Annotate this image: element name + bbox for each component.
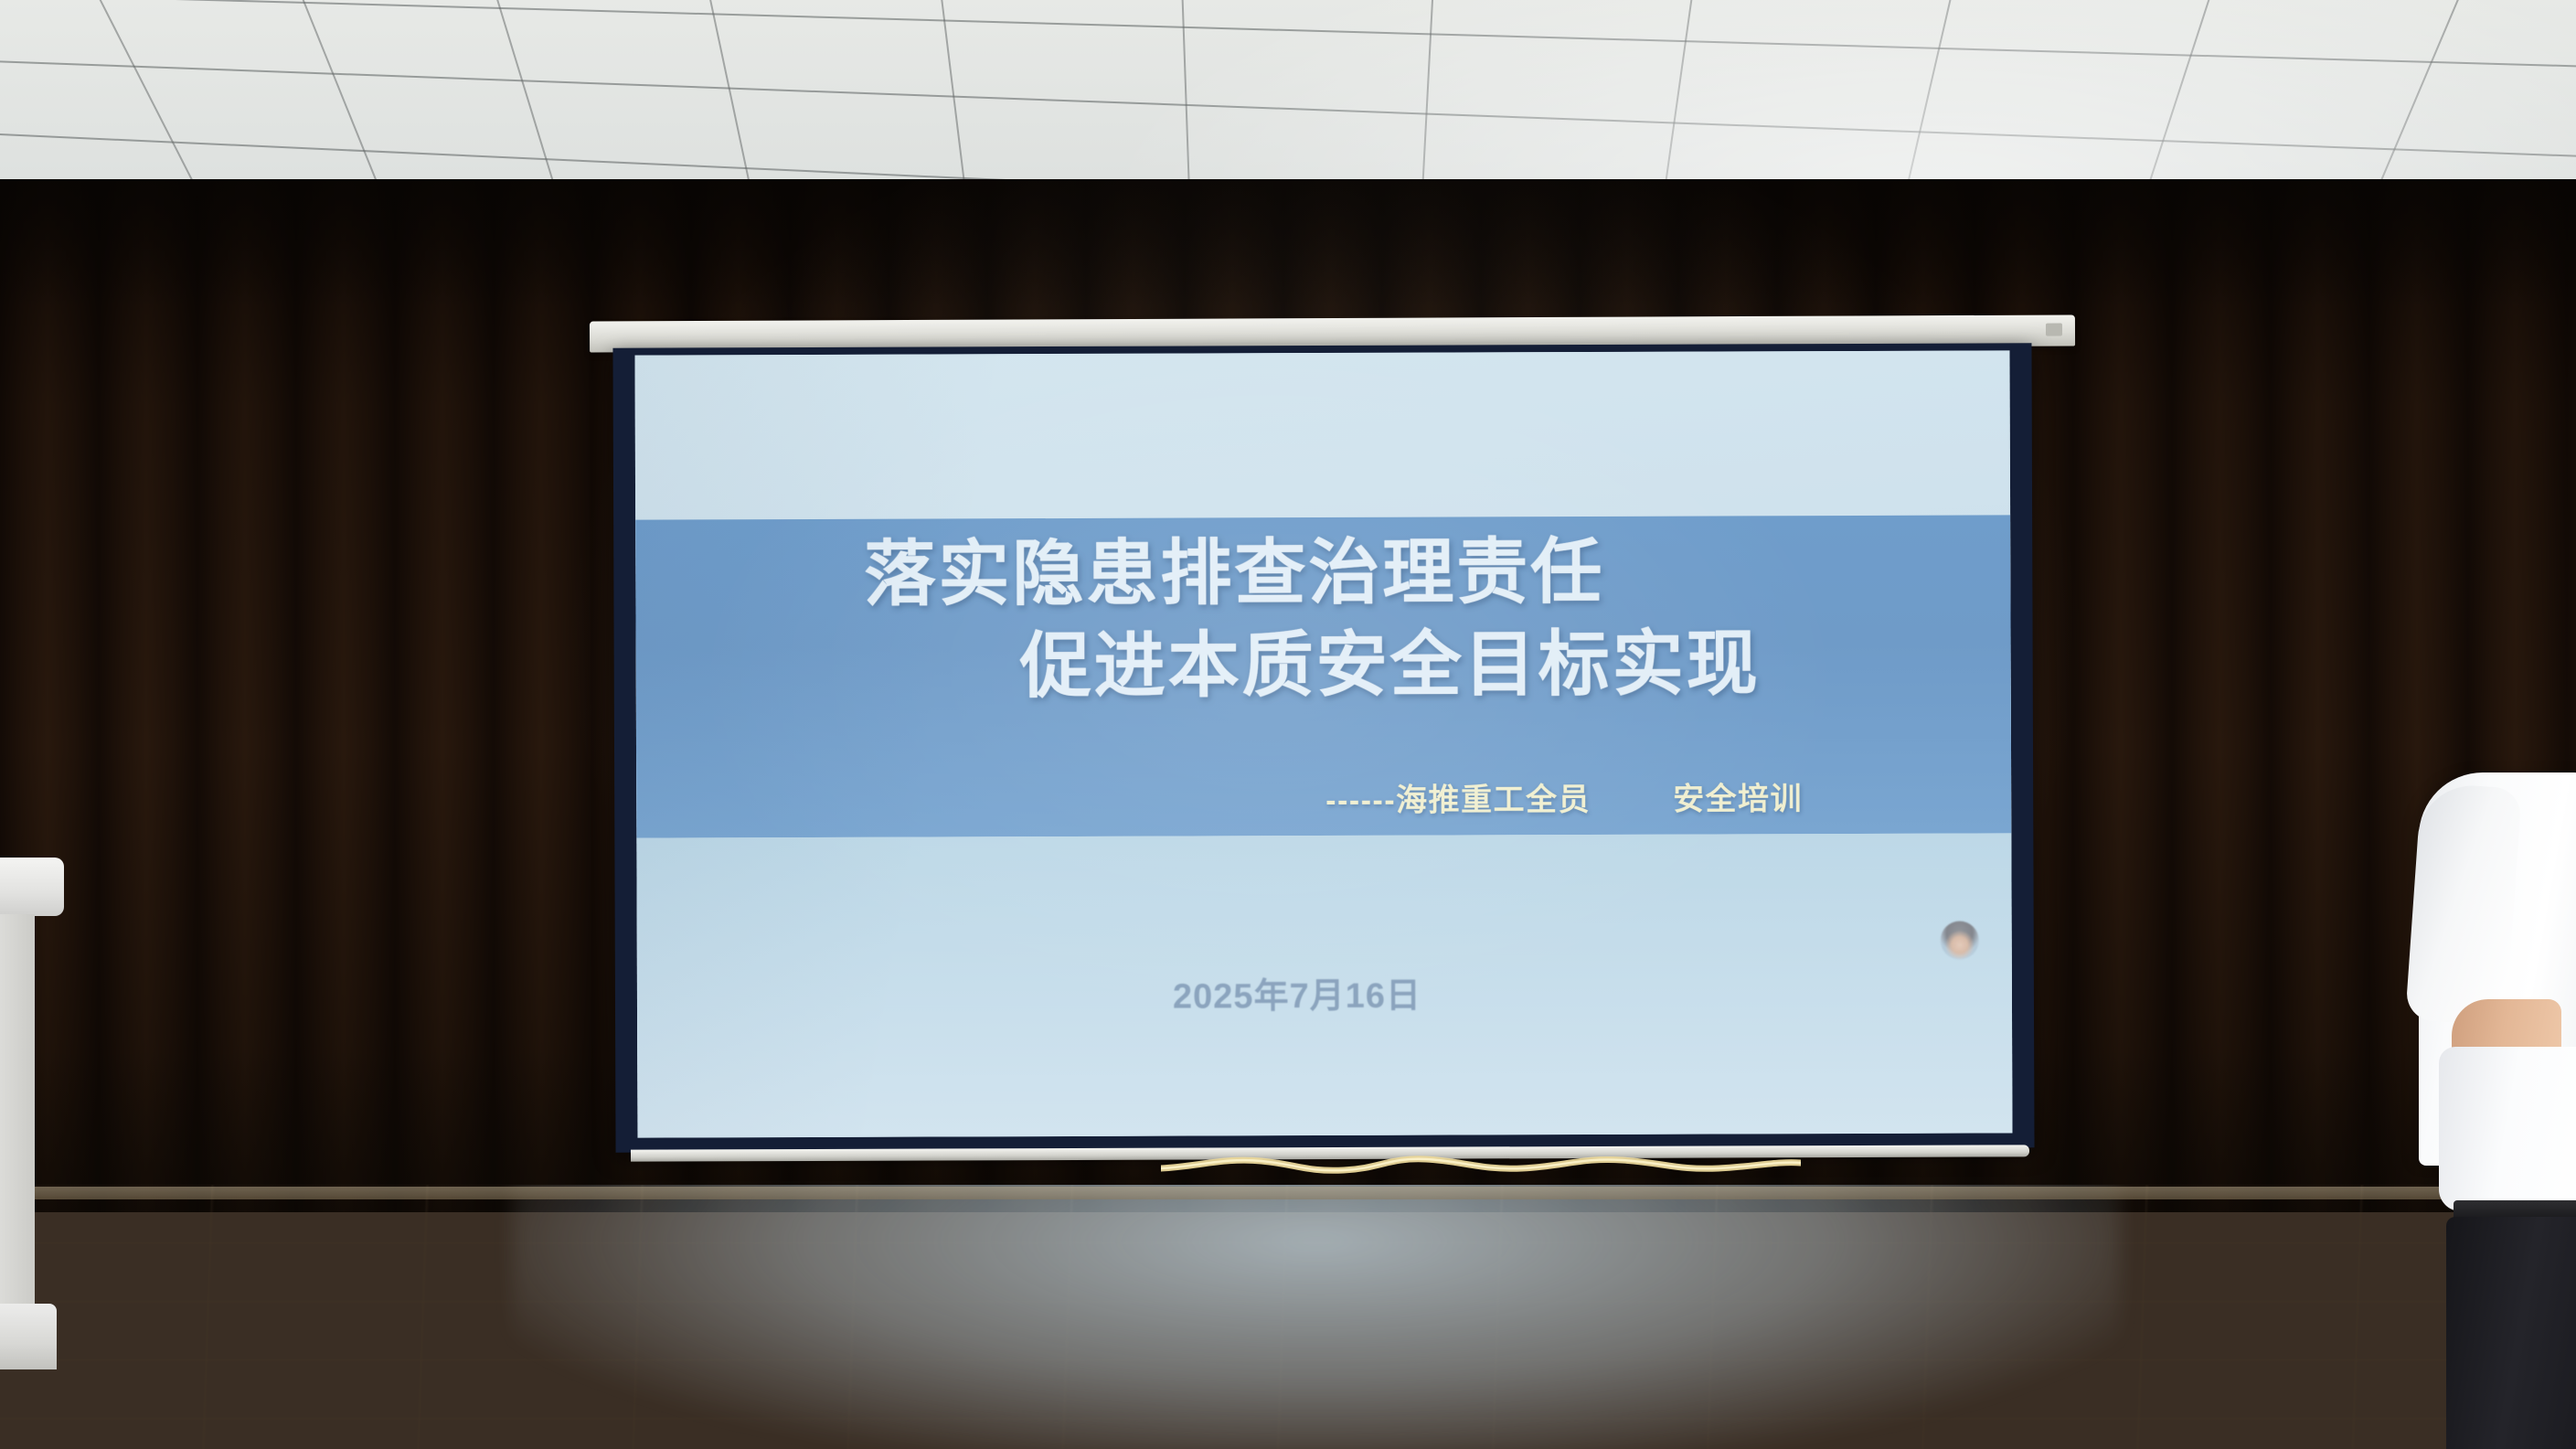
standing-person	[2410, 772, 2576, 1449]
lectern-top	[0, 858, 64, 916]
slide-subtitle-left: ------海推重工全员	[1325, 774, 1591, 820]
ceiling-grid-line	[0, 0, 2576, 76]
roller-endcap	[2046, 324, 2062, 336]
conference-room-scene: 落实隐患排查治理责任 促进本质安全目标实现 ------海推重工全员 安全培训 …	[0, 0, 2576, 1449]
presentation-slide: 落实隐患排查治理责任 促进本质安全目标实现 ------海推重工全员 安全培训 …	[634, 350, 2012, 1137]
presenter-avatar-icon	[1941, 921, 1979, 959]
person-pants	[2446, 1217, 2576, 1449]
lectern-column	[0, 914, 35, 1307]
person-sleeve	[2405, 782, 2522, 1026]
lectern	[0, 858, 64, 1369]
lectern-base	[0, 1304, 57, 1369]
floor-baseboard	[0, 1187, 2576, 1199]
slide-title-line-2: 促进本质安全目标实现	[1020, 622, 2011, 707]
slide-title-block: 落实隐患排查治理责任 促进本质安全目标实现	[635, 529, 2011, 708]
projection-screen-surface: 落实隐患排查治理责任 促进本质安全目标实现 ------海推重工全员 安全培训 …	[634, 350, 2012, 1137]
slide-subtitle-right: 安全培训	[1673, 773, 1803, 818]
person-shirt-lower	[2439, 1047, 2576, 1211]
wooden-floor	[0, 1185, 2576, 1449]
slide-subtitle-row: ------海推重工全员 安全培训	[636, 772, 2011, 822]
slide-date: 2025年7月16日	[637, 964, 2012, 1019]
slide-title-line-1: 落实隐患排查治理责任	[864, 529, 2010, 614]
projector-light-spill	[512, 1185, 2121, 1449]
projection-screen: 落实隐患排查治理责任 促进本质安全目标实现 ------海推重工全员 安全培训 …	[612, 343, 2034, 1152]
